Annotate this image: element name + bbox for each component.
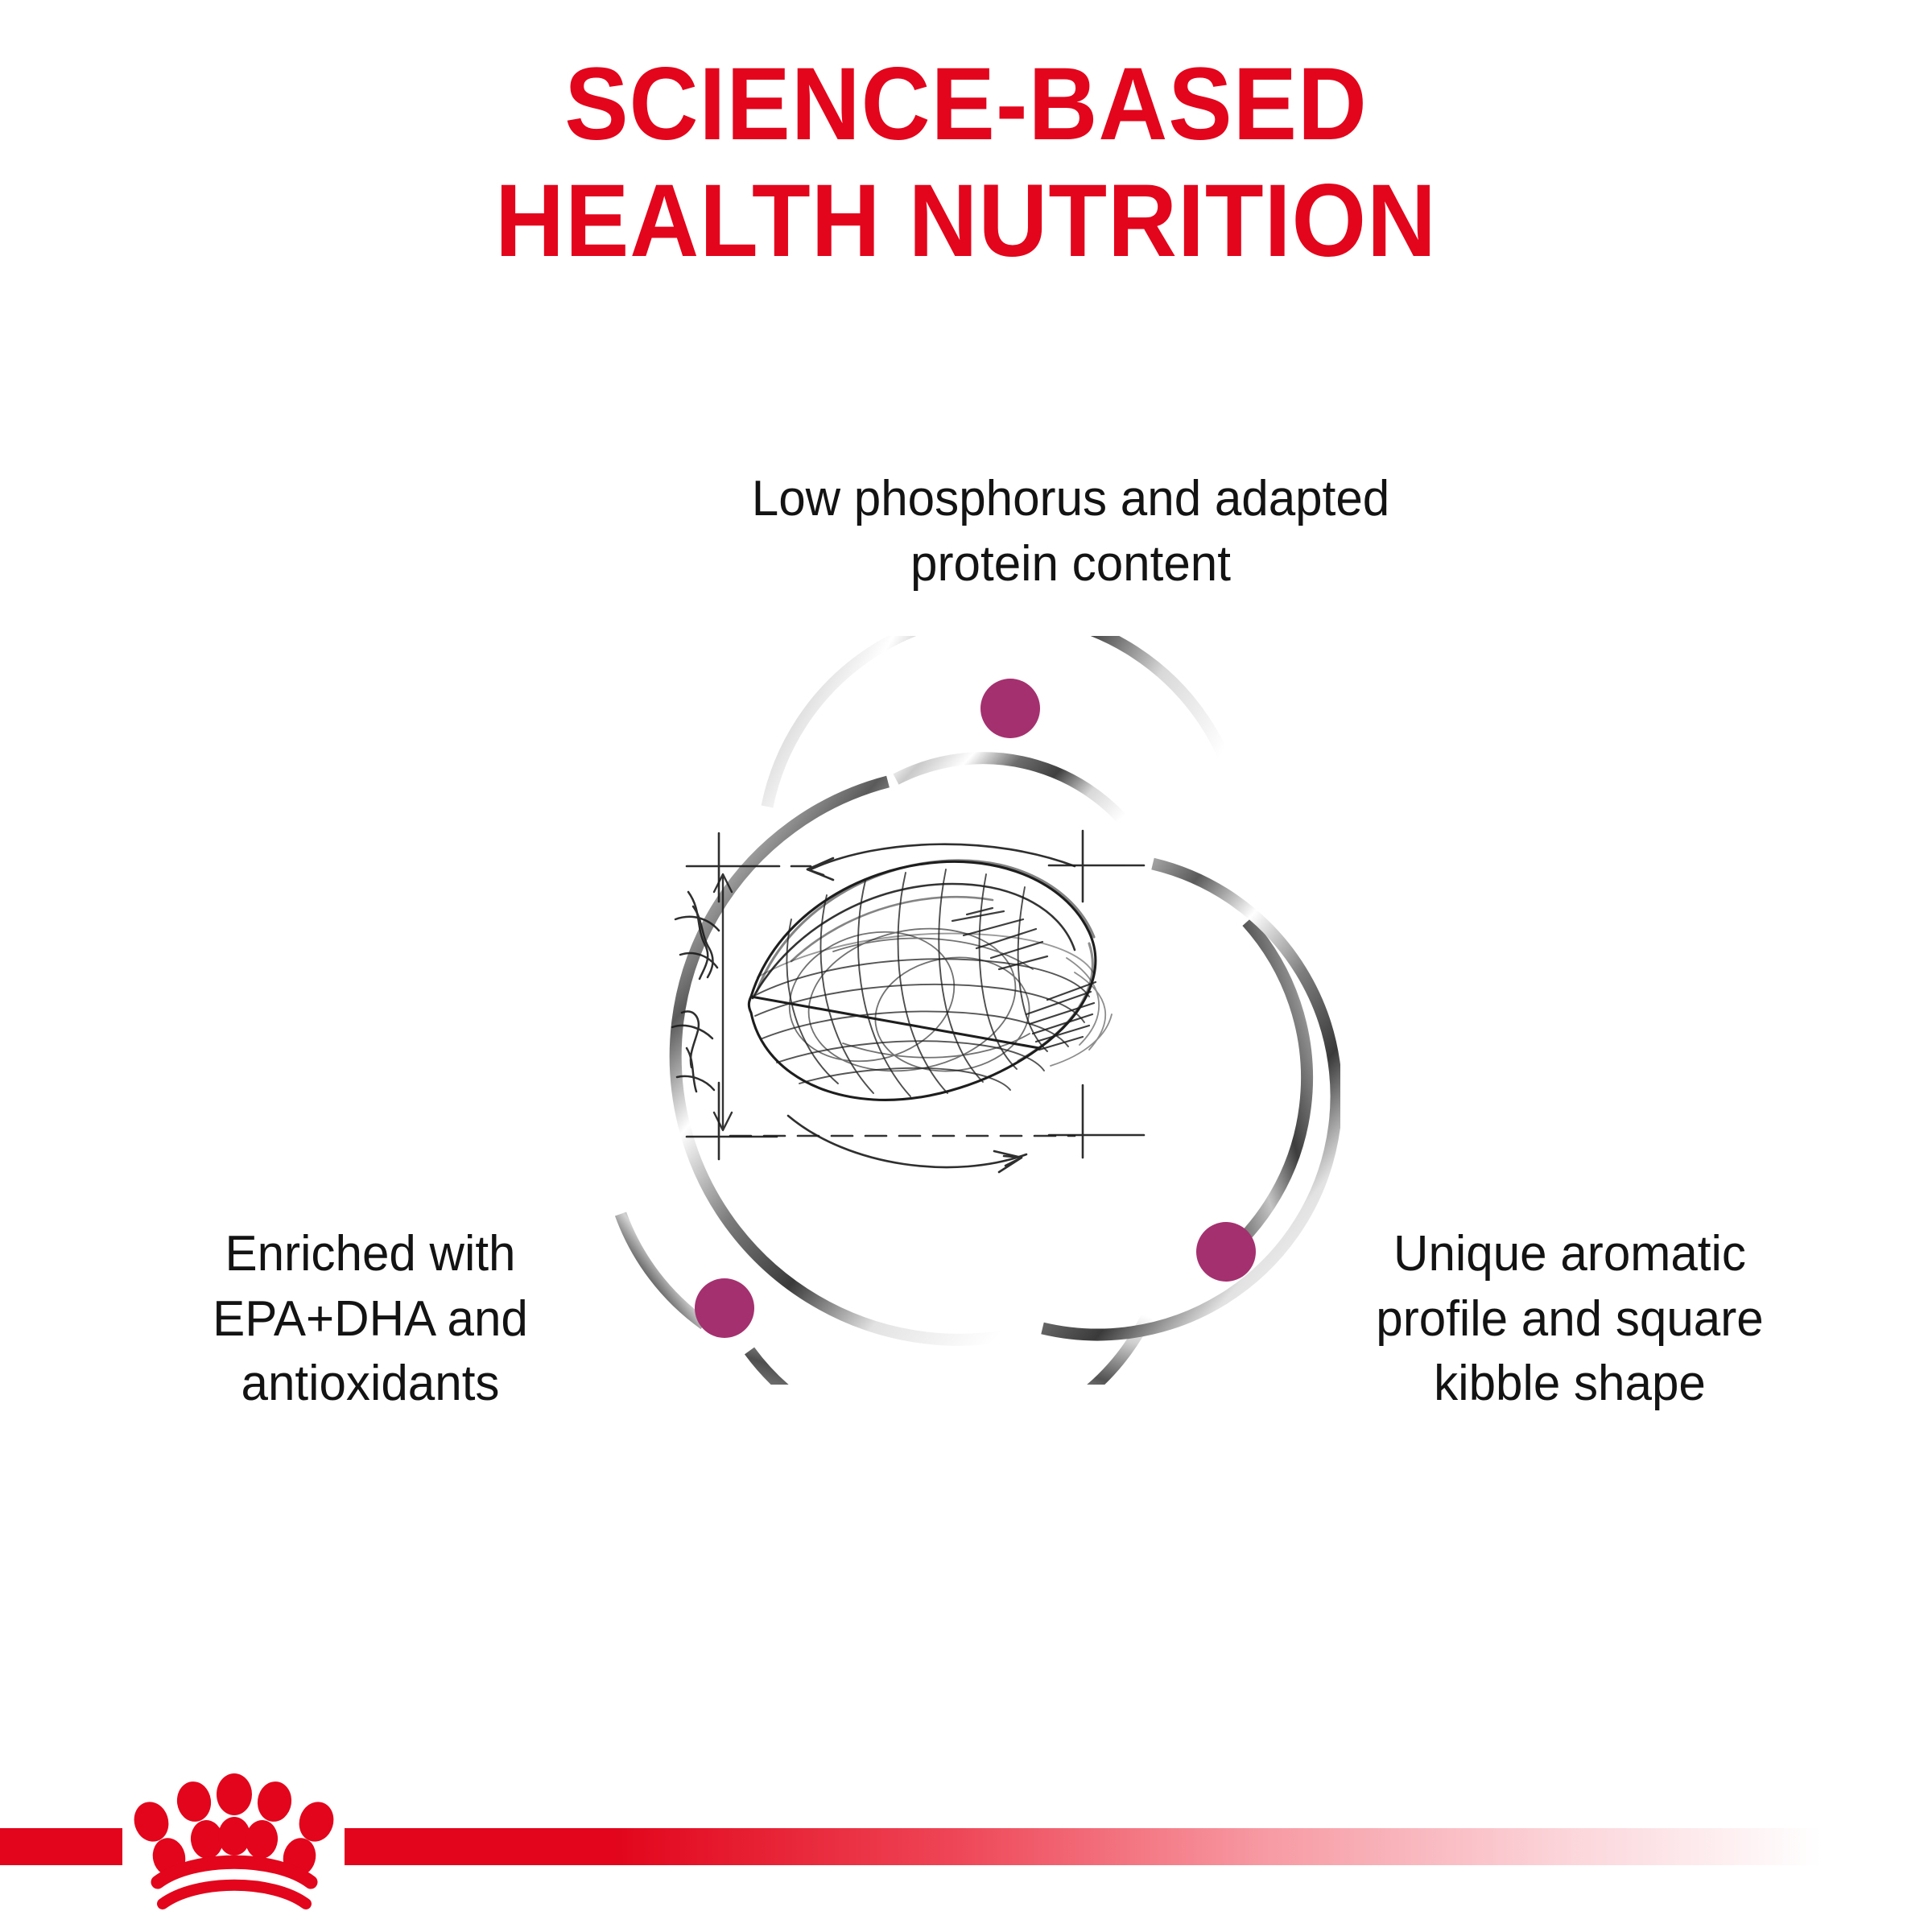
page-title: SCIENCE-BASED HEALTH NUTRITION [68, 47, 1864, 279]
orbit-dot-top [980, 679, 1040, 738]
brand-bar-right-segment [345, 1828, 1932, 1865]
page-title-line-2: HEALTH NUTRITION [68, 163, 1864, 280]
feature-caption-line: antioxidants [105, 1352, 636, 1417]
dimension-arrow-bottom [788, 1116, 1026, 1172]
crown-base-arcs [158, 1862, 311, 1904]
orbit-dot-bottom-left [695, 1278, 754, 1338]
feature-caption-line: kibble shape [1304, 1352, 1835, 1417]
kibble-construction-lines [774, 910, 1037, 1089]
poster-canvas: SCIENCE-BASED HEALTH NUTRITION Low phosp… [0, 0, 1932, 1932]
feature-caption-line: Unique aromatic [1304, 1222, 1835, 1287]
feature-caption-line: Enriched with [105, 1222, 636, 1287]
feature-caption-epa-dha: Enriched with EPA+DHA and antioxidants [105, 1222, 636, 1417]
orbit-dot-bottom-right [1196, 1222, 1256, 1282]
feature-caption-line: protein content [602, 532, 1539, 597]
footer-brand-bar [0, 1759, 1932, 1932]
kibble-sweep-lines [1051, 958, 1112, 1066]
feature-caption-line: profile and square [1304, 1287, 1835, 1352]
brand-bar-left-segment [0, 1828, 122, 1865]
kibble-crest [753, 884, 1075, 998]
page-title-line-1: SCIENCE-BASED [68, 47, 1864, 163]
royal-canin-crown-logo [122, 1765, 345, 1918]
feature-caption-line: Low phosphorus and adapted [602, 467, 1539, 532]
kibble-design-graphic [592, 636, 1340, 1385]
feature-caption-line: EPA+DHA and [105, 1287, 636, 1352]
feature-caption-low-phosphorus: Low phosphorus and adapted protein conte… [602, 467, 1539, 597]
kibble-outline [749, 861, 1095, 1100]
feature-caption-aromatic-profile: Unique aromatic profile and square kibbl… [1304, 1222, 1835, 1417]
